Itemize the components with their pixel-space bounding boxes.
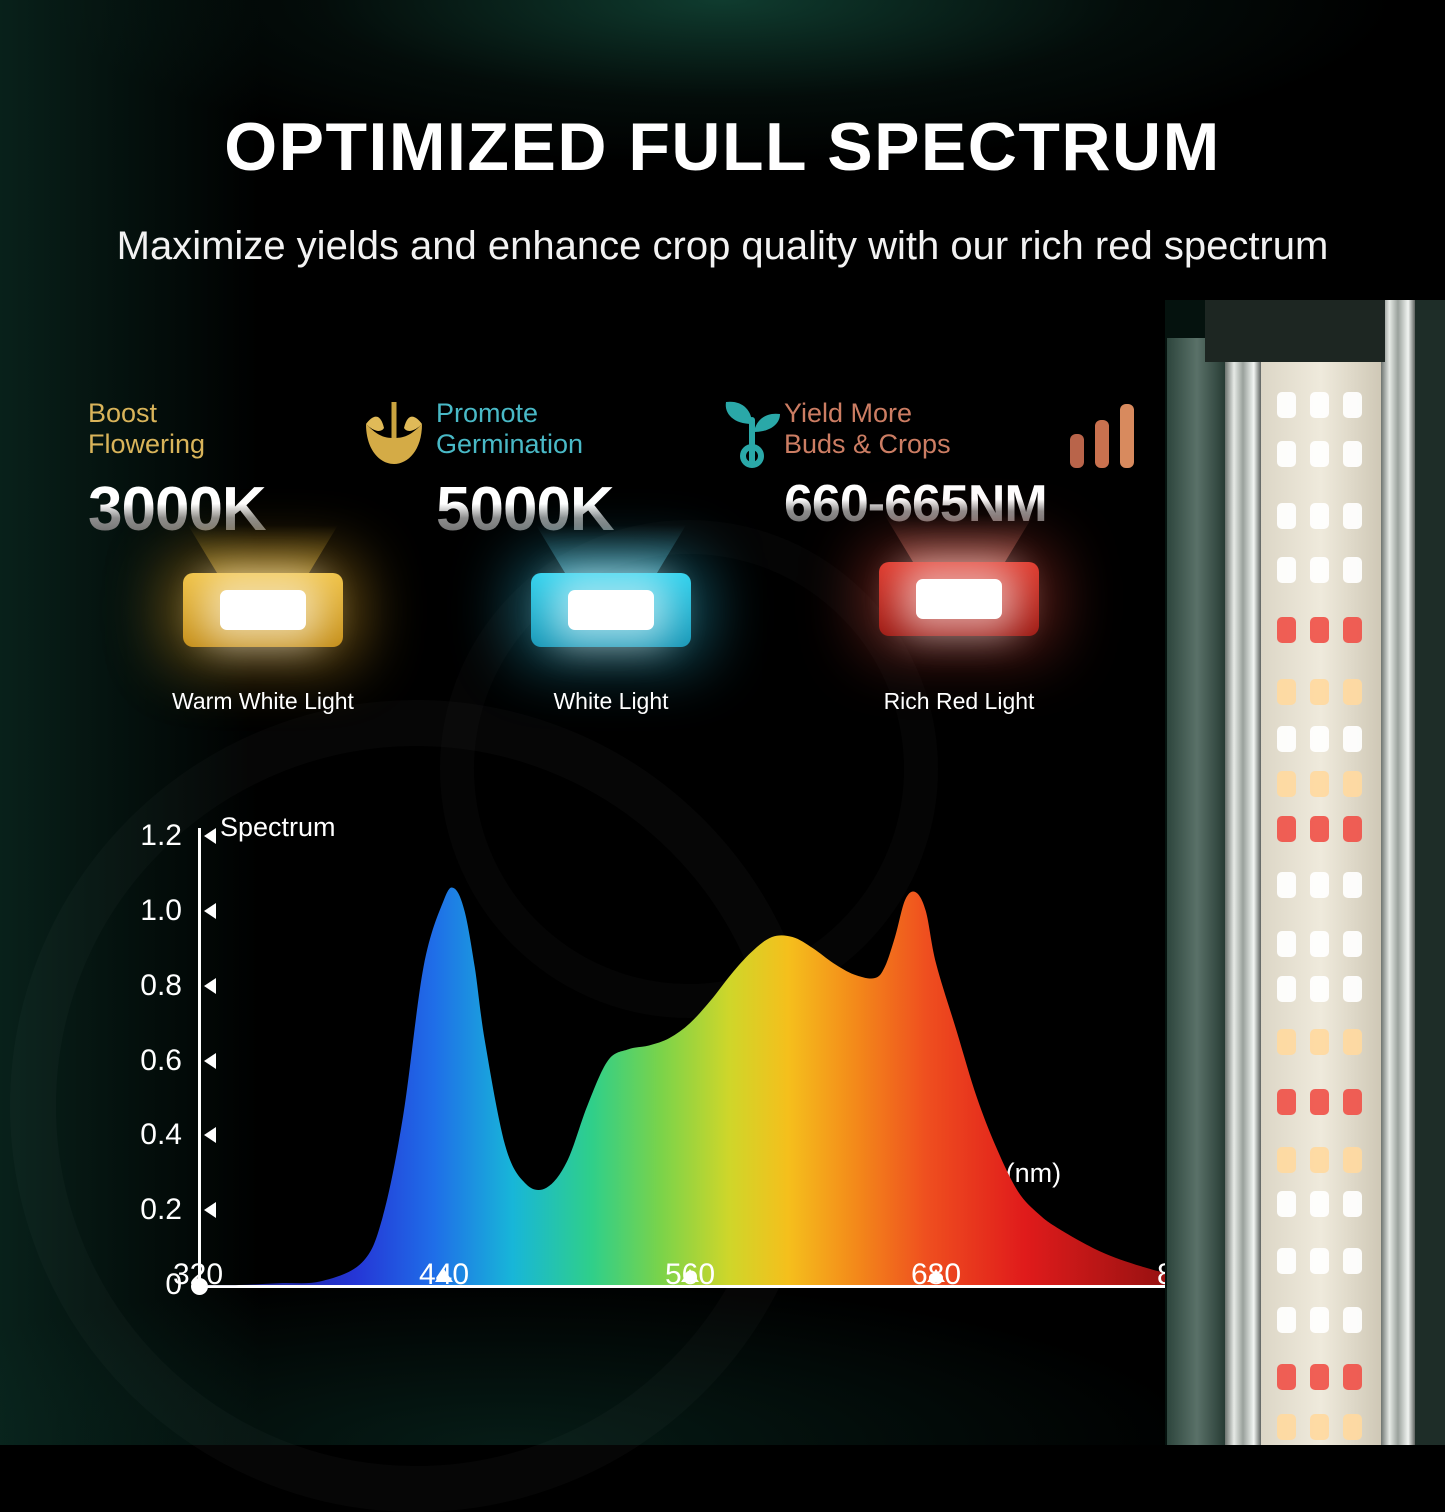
led-emitter: [1310, 1089, 1329, 1115]
chip-body-3: [879, 562, 1039, 636]
led-emitter: [1310, 1029, 1329, 1055]
led-emitter: [1310, 441, 1329, 467]
chart-x-tick-label: 440: [419, 1258, 469, 1292]
led-emitter: [1310, 816, 1329, 842]
led-emitter: [1277, 1414, 1296, 1440]
led-emitter: [1343, 872, 1362, 898]
feature-caption-2: Promote Germination: [436, 398, 786, 470]
led-emitter: [1343, 1364, 1362, 1390]
led-emitter: [1277, 1307, 1296, 1333]
led-emitter: [1343, 976, 1362, 1002]
led-emitter: [1277, 931, 1296, 957]
feature-promote-germination: Promote Germination 5000K: [436, 398, 786, 661]
led-emitter: [1343, 392, 1362, 418]
led-emitter: [1277, 816, 1296, 842]
led-emitter: [1277, 557, 1296, 583]
led-emitter: [1343, 931, 1362, 957]
feature-yield-more: Yield More Buds & Crops 660-665NM: [784, 398, 1134, 650]
bar-growth-icon: [1066, 400, 1138, 475]
led-emitter: [1310, 931, 1329, 957]
chip-body-1: [183, 573, 343, 647]
led-emitter: [1310, 1307, 1329, 1333]
chart-x-tick-label: 320: [173, 1258, 223, 1292]
led-emitter: [1310, 1191, 1329, 1217]
led-emitter: [1310, 726, 1329, 752]
led-emitter: [1310, 1414, 1329, 1440]
led-emitter: [1277, 1089, 1296, 1115]
led-emitter: [1343, 557, 1362, 583]
led-emitter: [1343, 1029, 1362, 1055]
chip-emitter-1: [220, 590, 306, 630]
led-emitter: [1310, 976, 1329, 1002]
led-emitter: [1343, 726, 1362, 752]
led-emitter: [1343, 816, 1362, 842]
chart-x-tick-label: 560: [665, 1258, 715, 1292]
led-emitter: [1277, 1364, 1296, 1390]
led-emitter: [1277, 1248, 1296, 1274]
led-emitter: [1343, 1147, 1362, 1173]
led-emitter: [1310, 679, 1329, 705]
led-emitter: [1343, 1307, 1362, 1333]
led-emitter: [1343, 1089, 1362, 1115]
feature-caption-1: Boost Flowering: [88, 398, 438, 470]
feature-value-1: 3000K: [88, 474, 438, 545]
led-emitter: [1310, 1147, 1329, 1173]
led-emitter: [1310, 872, 1329, 898]
spectrum-chart: 00.20.40.60.81.01.2 Spectrum Wavelength(…: [120, 828, 1190, 1288]
led-emitter: [1343, 441, 1362, 467]
chip-emitter-2: [568, 590, 654, 630]
chart-x-tick-label: 680: [911, 1258, 961, 1292]
chart-plot-area: [120, 828, 1190, 1288]
sprout-icon: [712, 394, 792, 473]
led-emitter: [1277, 503, 1296, 529]
led-emitter: [1277, 441, 1296, 467]
led-emitter: [1310, 503, 1329, 529]
led-emitter: [1277, 617, 1296, 643]
feature-label-1: Warm White Light: [88, 688, 438, 715]
feature-value-2: 5000K: [436, 474, 786, 545]
led-emitter: [1277, 1191, 1296, 1217]
chip-body-2: [531, 573, 691, 647]
led-emitter: [1343, 1248, 1362, 1274]
feature-boost-flowering: Boost Flowering 3000K: [88, 398, 438, 661]
led-emitter: [1277, 679, 1296, 705]
page-subtitle: Maximize yields and enhance crop quality…: [0, 222, 1445, 271]
page-title: OPTIMIZED FULL SPECTRUM: [0, 108, 1445, 186]
led-emitter: [1277, 872, 1296, 898]
led-emitter: [1310, 771, 1329, 797]
feature-label-2: White Light: [436, 688, 786, 715]
feature-list: Boost Flowering 3000K: [88, 398, 1168, 728]
led-emitter: [1343, 679, 1362, 705]
feature-label-3: Rich Red Light: [784, 688, 1134, 715]
led-chip-1: [88, 551, 438, 661]
led-emitter: [1277, 392, 1296, 418]
led-emitter: [1277, 726, 1296, 752]
tulip-icon: [350, 394, 438, 473]
led-emitter: [1310, 557, 1329, 583]
led-emitter: [1310, 1364, 1329, 1390]
led-emitter: [1310, 617, 1329, 643]
led-emitter: [1343, 617, 1362, 643]
led-emitter: [1343, 1191, 1362, 1217]
led-emitter: [1277, 976, 1296, 1002]
led-emitter: [1343, 503, 1362, 529]
led-bar-photo: [1165, 300, 1445, 1445]
led-emitter: [1343, 1414, 1362, 1440]
feature-caption-3: Yield More Buds & Crops: [784, 398, 1134, 470]
feature-value-3: 660-665NM: [784, 474, 1134, 534]
led-emitter: [1310, 392, 1329, 418]
led-chip-3: [784, 540, 1134, 650]
led-chip-2: [436, 551, 786, 661]
led-emitter: [1343, 771, 1362, 797]
led-emitter: [1277, 1029, 1296, 1055]
led-emitter: [1310, 1248, 1329, 1274]
chip-emitter-3: [916, 579, 1002, 619]
led-emitter: [1277, 771, 1296, 797]
led-emitter: [1277, 1147, 1296, 1173]
